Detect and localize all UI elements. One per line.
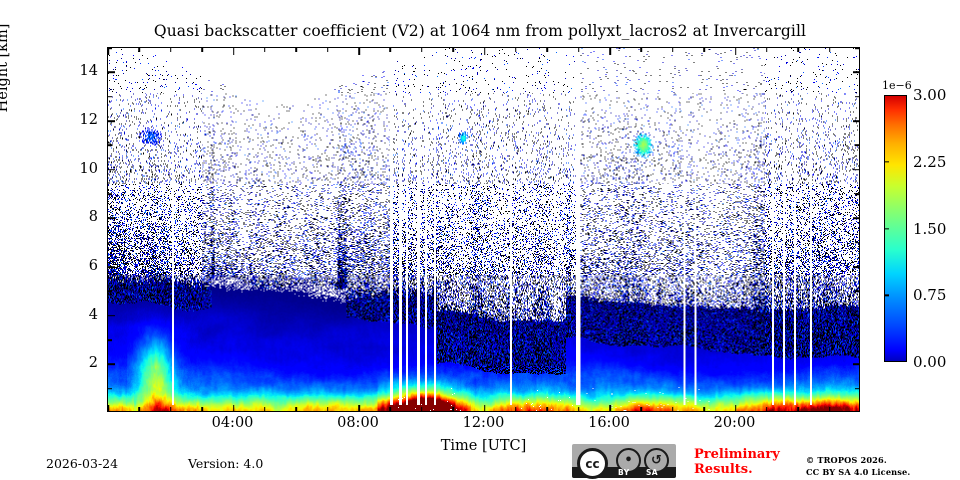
colorbar-tick-mark: [884, 161, 889, 162]
x-tick-mark: [578, 407, 580, 411]
y-axis-tick-label: 8: [0, 209, 98, 225]
x-tick-mark-top: [735, 48, 737, 55]
y-tick-mark: [108, 291, 112, 293]
x-tick-mark: [421, 407, 423, 411]
y-tick-mark-right: [853, 315, 860, 317]
y-tick-mark-right: [853, 72, 860, 74]
x-tick-mark-top: [201, 48, 203, 52]
x-tick-mark: [484, 405, 486, 412]
y-tick-mark-right: [855, 145, 859, 147]
x-axis-tick-label: 08:00: [337, 415, 379, 431]
y-tick-mark-right: [855, 193, 859, 195]
x-tick-mark: [515, 407, 517, 411]
y-tick-mark: [108, 218, 115, 220]
y-tick-mark: [108, 120, 115, 122]
x-tick-mark-top: [672, 48, 674, 52]
y-tick-mark: [108, 364, 115, 366]
cc-license-badge-icon[interactable]: cc • ↺ BY SA: [572, 444, 676, 478]
x-tick-mark: [797, 407, 799, 411]
x-tick-mark-top: [797, 48, 799, 52]
y-tick-mark: [108, 96, 112, 98]
x-tick-mark-top: [390, 48, 392, 52]
plot-area[interactable]: [107, 47, 860, 412]
y-axis-tick-label: 12: [0, 112, 98, 128]
x-tick-mark: [139, 407, 141, 411]
x-tick-mark: [233, 405, 235, 412]
x-tick-mark: [390, 407, 392, 411]
colorbar-tick-mark: [884, 228, 889, 229]
person-glyph: •: [624, 454, 632, 467]
y-tick-mark-right: [855, 96, 859, 98]
x-tick-mark: [327, 407, 329, 411]
x-tick-mark-top: [358, 48, 360, 55]
y-tick-mark-right: [855, 388, 859, 390]
x-tick-mark: [170, 407, 172, 411]
y-tick-mark-right: [855, 339, 859, 341]
x-tick-mark: [609, 405, 611, 412]
x-tick-mark-top: [452, 48, 454, 52]
colorbar-exponent-label: 1e−6: [882, 79, 912, 92]
y-tick-mark-right: [853, 266, 860, 268]
x-tick-mark-top: [766, 48, 768, 52]
y-tick-mark-right: [853, 364, 860, 366]
x-tick-mark-top: [139, 48, 141, 52]
x-tick-mark: [735, 405, 737, 412]
y-tick-mark: [108, 145, 112, 147]
y-tick-mark: [108, 169, 115, 171]
colorbar-tick-label: 2.25: [913, 153, 946, 171]
x-tick-mark: [703, 407, 705, 411]
y-tick-mark: [108, 315, 115, 317]
x-tick-mark: [452, 407, 454, 411]
x-tick-mark: [641, 407, 643, 411]
circular-arrow-glyph: ↺: [651, 454, 662, 467]
y-axis-tick-label: 2: [0, 355, 98, 371]
y-tick-mark: [108, 339, 112, 341]
x-axis-tick-label: 12:00: [463, 415, 505, 431]
copyright-notice: © TROPOS 2026. CC BY SA 4.0 License.: [806, 455, 956, 479]
x-tick-mark: [829, 407, 831, 411]
x-tick-mark-top: [327, 48, 329, 52]
x-axis-tick-label: 16:00: [588, 415, 630, 431]
y-axis-tick-label: 14: [0, 63, 98, 79]
copyright-line-1: © TROPOS 2026.: [806, 455, 956, 467]
x-tick-mark-top: [546, 48, 548, 52]
x-tick-mark: [201, 407, 203, 411]
preliminary-line-1: Preliminary: [694, 448, 804, 463]
y-tick-mark: [108, 72, 115, 74]
lidar-heatmap-canvas: [108, 48, 859, 411]
y-tick-mark-right: [853, 218, 860, 220]
preliminary-line-2: Results.: [694, 463, 804, 478]
y-tick-mark: [108, 266, 115, 268]
x-tick-mark-top: [295, 48, 297, 52]
x-tick-mark-top: [515, 48, 517, 52]
y-tick-mark-right: [853, 120, 860, 122]
x-tick-mark-top: [641, 48, 643, 52]
y-tick-mark: [108, 193, 112, 195]
y-axis-tick-label: 10: [0, 161, 98, 177]
creative-commons-icon: cc: [577, 448, 608, 479]
x-tick-mark: [264, 407, 266, 411]
x-tick-mark: [766, 407, 768, 411]
x-axis-tick-label: 20:00: [714, 415, 756, 431]
x-tick-mark-top: [609, 48, 611, 55]
y-axis-tick-label: 6: [0, 258, 98, 274]
x-tick-mark-top: [264, 48, 266, 52]
badge-by-caption: BY: [618, 467, 630, 478]
y-tick-mark: [108, 388, 112, 390]
x-tick-mark-top: [484, 48, 486, 55]
y-tick-mark-right: [855, 47, 859, 49]
x-tick-mark: [295, 407, 297, 411]
x-tick-mark-top: [829, 48, 831, 52]
quicklook-figure: Quasi backscatter coefficient (V2) at 10…: [0, 0, 960, 480]
footer-date: 2026-03-24: [46, 456, 118, 471]
x-tick-mark: [107, 405, 109, 412]
y-axis-label: Height [km]: [0, 0, 11, 188]
x-tick-mark-top: [233, 48, 235, 55]
y-tick-mark-right: [855, 291, 859, 293]
colorbar-tick-label: 3.00: [913, 86, 946, 104]
y-tick-mark-right: [853, 169, 860, 171]
y-tick-mark: [108, 242, 112, 244]
x-tick-mark-top: [703, 48, 705, 52]
heatmap-layer: [108, 48, 859, 411]
y-axis-tick-label: 4: [0, 307, 98, 323]
x-tick-mark-top: [107, 48, 109, 55]
colorbar-tick-label: 1.50: [913, 220, 946, 238]
colorbar-tick-mark: [884, 295, 889, 296]
x-axis-tick-label: 04:00: [212, 415, 254, 431]
x-tick-mark: [358, 405, 360, 412]
preliminary-results-notice: Preliminary Results.: [694, 448, 804, 477]
colorbar-tick-label: 0.00: [913, 353, 946, 371]
x-tick-mark-top: [421, 48, 423, 52]
colorbar-tick-label: 0.75: [913, 286, 946, 304]
page-title: Quasi backscatter coefficient (V2) at 10…: [0, 22, 960, 40]
badge-sa-caption: SA: [646, 467, 658, 478]
x-tick-mark: [672, 407, 674, 411]
y-tick-mark-right: [855, 242, 859, 244]
copyright-line-2: CC BY SA 4.0 License.: [806, 467, 956, 479]
x-tick-mark-top: [578, 48, 580, 52]
x-tick-mark-top: [170, 48, 172, 52]
footer-version: Version: 4.0: [188, 456, 263, 471]
x-tick-mark: [546, 407, 548, 411]
